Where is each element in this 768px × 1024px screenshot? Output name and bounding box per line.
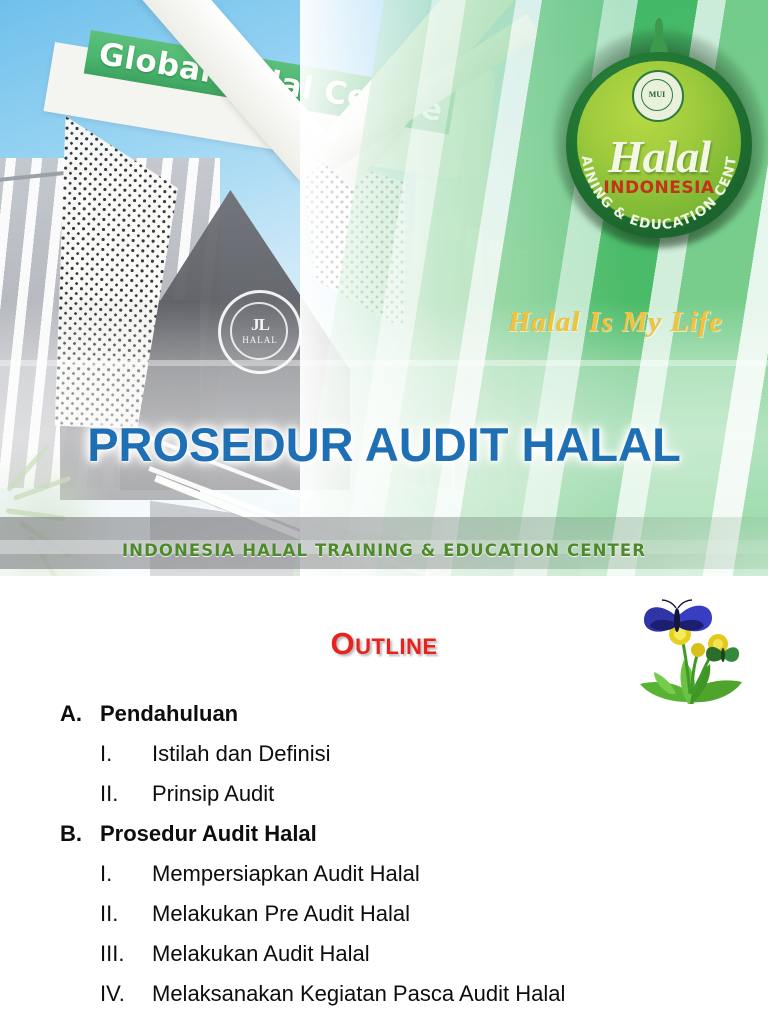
list-item-label: Prinsip Audit — [152, 781, 274, 807]
list-item[interactable]: A. Pendahuluan — [0, 701, 768, 741]
slide: Global Halal Centre JL HALAL — [0, 0, 768, 1024]
list-item-marker: B. — [60, 821, 100, 847]
list-item[interactable]: IV. Melaksanakan Kegiatan Pasca Audit Ha… — [0, 981, 768, 1021]
list-item[interactable]: II. Prinsip Audit — [0, 781, 768, 821]
list-item-label: Mempersiapkan Audit Halal — [152, 861, 420, 887]
list-item-label: Melakukan Pre Audit Halal — [152, 901, 410, 927]
logo-arc-text: TRAINING & EDUCATION CENTER — [566, 52, 752, 238]
list-item[interactable]: B. Prosedur Audit Halal — [0, 821, 768, 861]
list-item-marker: III. — [100, 941, 152, 967]
list-item-label: Prosedur Audit Halal — [100, 821, 317, 847]
svg-text:TRAINING & EDUCATION CENTER: TRAINING & EDUCATION CENTER — [566, 52, 740, 233]
halal-indonesia-logo: MUI Halal INDONESIA TRAINING & EDUCATION… — [566, 52, 752, 238]
list-item-marker: II. — [100, 901, 152, 927]
list-item-label: Pendahuluan — [100, 701, 238, 727]
list-item-marker: I. — [100, 741, 152, 767]
list-item[interactable]: I. Mempersiapkan Audit Halal — [0, 861, 768, 901]
list-item-marker: A. — [60, 701, 100, 727]
slide-body: Outline — [0, 576, 768, 1024]
outline-list: A. Pendahuluan I. Istilah dan Definisi I… — [0, 701, 768, 1021]
list-item-label: Melaksanakan Kegiatan Pasca Audit Halal — [152, 981, 565, 1007]
list-item-label: Istilah dan Definisi — [152, 741, 331, 767]
butterfly-icon — [644, 600, 712, 632]
butterfly-small-icon — [706, 647, 739, 662]
logo-arc-label: TRAINING & EDUCATION CENTER — [566, 52, 740, 233]
list-item-marker: IV. — [100, 981, 152, 1007]
list-item[interactable]: III. Melakukan Audit Halal — [0, 941, 768, 981]
list-item-marker: I. — [100, 861, 152, 887]
list-item-label: Melakukan Audit Halal — [152, 941, 370, 967]
list-item-marker: II. — [100, 781, 152, 807]
list-item[interactable]: II. Melakukan Pre Audit Halal — [0, 901, 768, 941]
list-item[interactable]: I. Istilah dan Definisi — [0, 741, 768, 781]
butterfly-on-dandelion-icon — [630, 594, 750, 709]
page-title: PROSEDUR AUDIT HALAL — [0, 417, 768, 472]
tagline: Halal Is My Life — [508, 306, 723, 339]
title-banner: Global Halal Centre JL HALAL — [0, 0, 768, 576]
organization-subtitle: INDONESIA HALAL TRAINING & EDUCATION CEN… — [0, 541, 768, 560]
